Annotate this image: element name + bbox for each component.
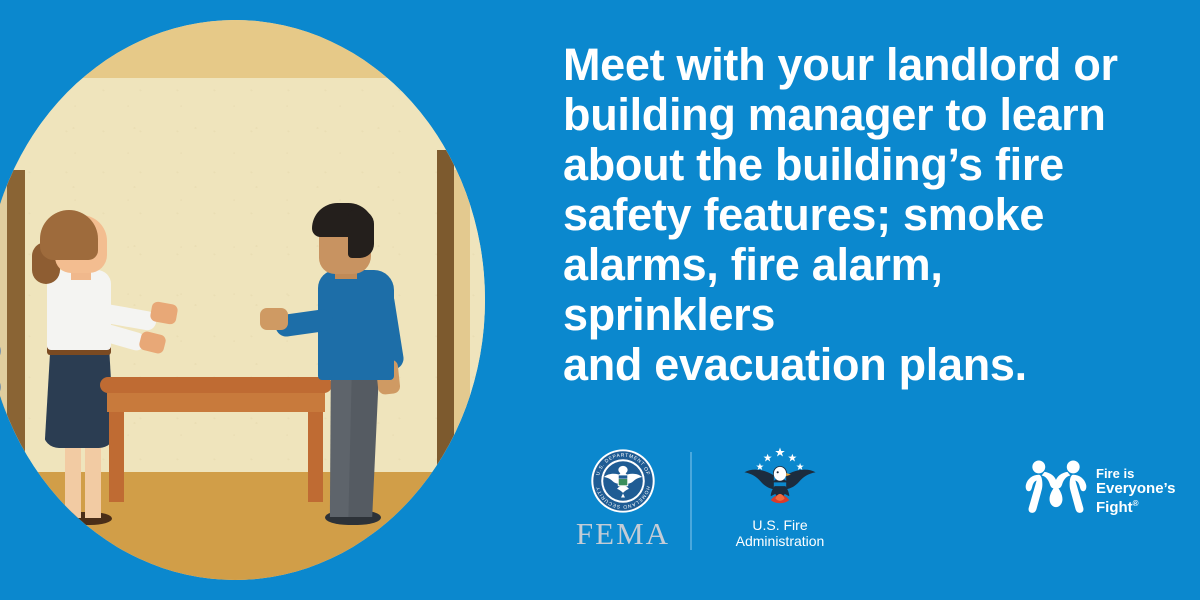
woman-hair (40, 210, 98, 260)
feef-line-3-word: Fight (1096, 499, 1133, 516)
two-figures-flame-icon (1020, 454, 1092, 520)
feef-line-1: Fire is (1096, 466, 1176, 481)
logo-divider (690, 452, 692, 550)
table-top (100, 377, 332, 393)
dhs-seal-icon: U.S. DEPARTMENT OF HOMELAND SECURITY (590, 448, 656, 514)
woman-hand-upper (149, 301, 178, 325)
fire-is-everyones-fight-text: Fire is Everyone’s Fight® (1096, 466, 1176, 515)
logo-row: U.S. DEPARTMENT OF HOMELAND SECURITY FEM… (0, 440, 1200, 560)
feef-line-2: Everyone’s (1096, 481, 1176, 496)
headline-text: Meet with your landlord or building mana… (563, 40, 1163, 390)
table-apron (107, 390, 325, 412)
registered-mark: ® (1133, 499, 1139, 508)
woman-skirt (43, 350, 115, 448)
man-hair-side (348, 210, 374, 258)
fire-is-everyones-fight-logo[interactable]: Fire is Everyone’s Fight® (1020, 454, 1170, 538)
door-panel (0, 178, 7, 483)
usfa-logo[interactable]: U.S. Fire Administration (700, 446, 860, 549)
usfa-label: U.S. Fire Administration (700, 517, 860, 549)
fema-wordmark: FEMA (563, 518, 683, 549)
man-hand-left (260, 308, 288, 330)
poster-canvas: Meet with your landlord or building mana… (0, 0, 1200, 600)
feef-line-3: Fight® (1096, 496, 1176, 515)
usfa-eagle-icon (741, 446, 819, 514)
fema-logo[interactable]: U.S. DEPARTMENT OF HOMELAND SECURITY FEM… (563, 448, 683, 549)
wall-corner-tan (454, 170, 470, 470)
wall-corner-dark (437, 150, 454, 480)
ceiling-band (0, 20, 485, 78)
